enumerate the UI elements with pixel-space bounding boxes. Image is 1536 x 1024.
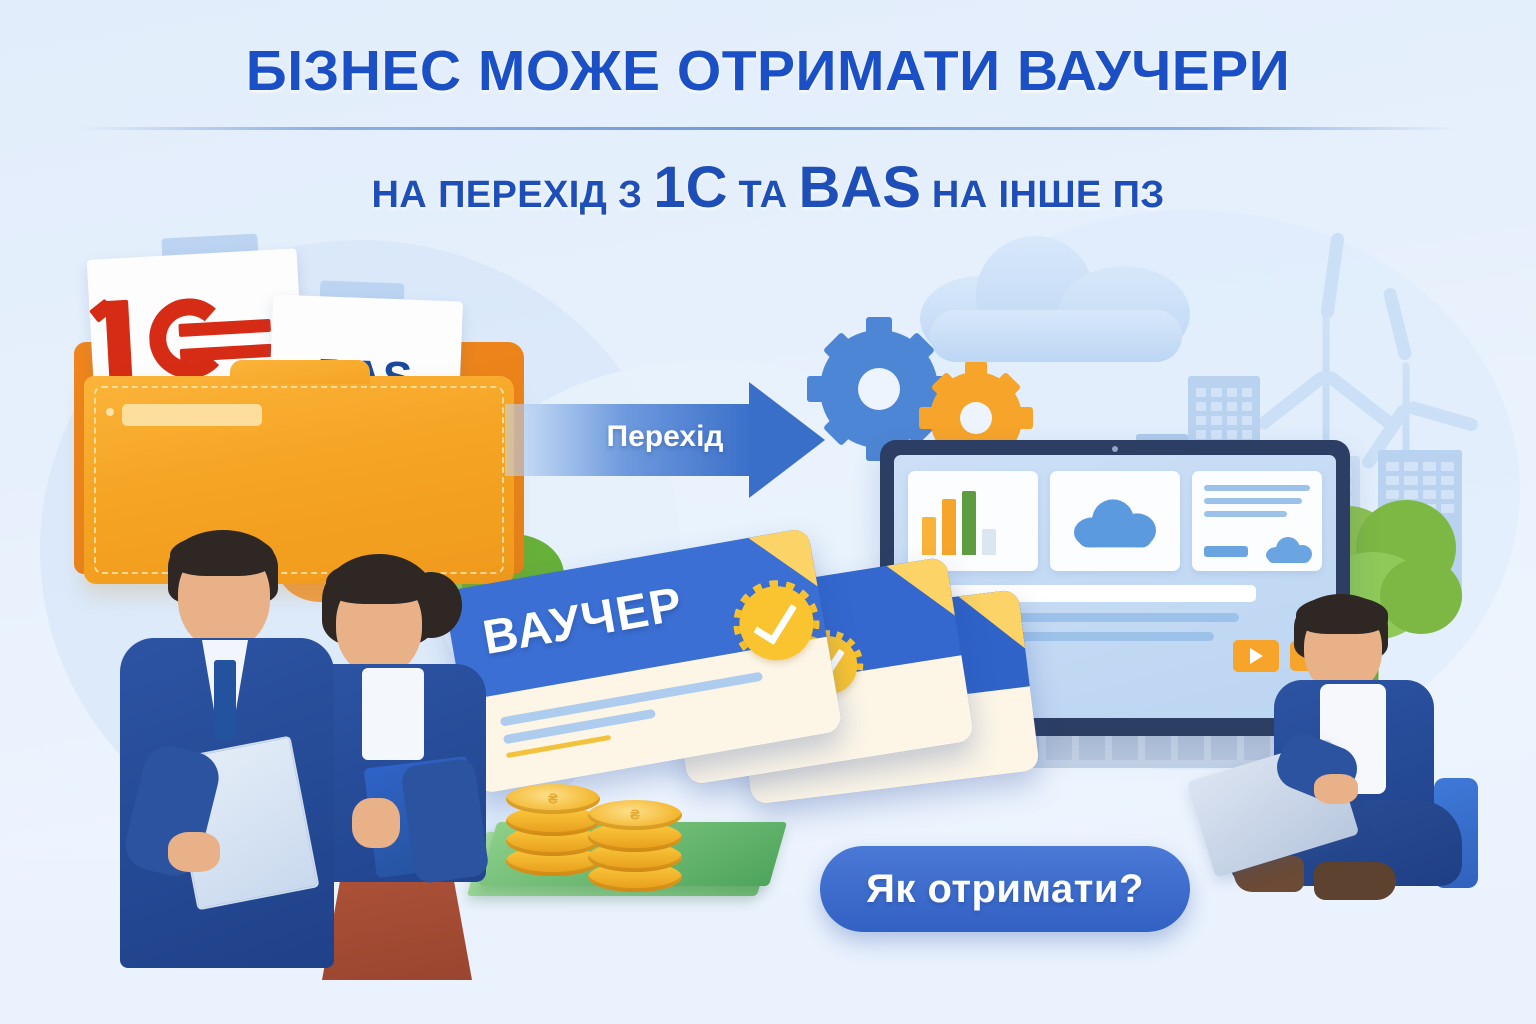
turbine-blade	[1255, 369, 1331, 432]
cloud-icon	[1266, 537, 1312, 561]
ticket-corner-fold	[958, 589, 1025, 656]
money-illustration: ₴ ₴	[478, 782, 778, 892]
voucher-title: ВАУЧЕР	[479, 577, 687, 666]
businessman-with-tablet	[116, 520, 346, 980]
page-subtitle: НА ПЕРЕХІД З 1C ТА BAS НА ІНШЕ ПЗ	[0, 154, 1536, 221]
gold-coins-icon: ₴	[506, 784, 600, 876]
hair-fringe	[1296, 596, 1388, 634]
turbine-blade	[1320, 232, 1345, 319]
arrow-label: Перехід	[565, 420, 765, 454]
gold-coins-icon: ₴	[588, 800, 682, 892]
brand-1c-label: 1C	[653, 155, 727, 220]
cloud-icon	[920, 232, 1190, 362]
document-lines-icon	[1204, 485, 1310, 524]
hand	[1314, 774, 1358, 804]
hair-fringe	[170, 534, 274, 576]
folder-label-strip	[122, 404, 262, 426]
checkmark-icon	[753, 595, 797, 645]
blouse	[362, 668, 424, 760]
brand-bas-label: BAS	[798, 155, 920, 220]
cta-label: Як отримати?	[866, 867, 1144, 912]
card-cloud	[1050, 471, 1180, 571]
necktie	[214, 660, 236, 740]
title-divider	[78, 127, 1458, 130]
turbine-blade	[1405, 400, 1480, 433]
ticket-corner-fold	[886, 556, 955, 625]
hand	[168, 832, 220, 872]
subtitle-part-3: НА ІНШЕ ПЗ	[921, 174, 1165, 216]
subtitle-part-2: ТА	[727, 174, 798, 216]
hand	[352, 798, 400, 848]
banner-header: БІЗНЕС МОЖЕ ОТРИМАТИ ВАУЧЕРИ НА ПЕРЕХІД …	[0, 42, 1536, 221]
folder-rivet	[106, 408, 114, 416]
page-title: БІЗНЕС МОЖЕ ОТРИМАТИ ВАУЧЕРИ	[0, 42, 1536, 101]
infographic-canvas: БІЗНЕС МОЖЕ ОТРИМАТИ ВАУЧЕРИ НА ПЕРЕХІД …	[0, 0, 1536, 1024]
man-seated-with-laptop	[1186, 588, 1496, 918]
subtitle-part-1: НА ПЕРЕХІД З	[371, 174, 653, 216]
card-document	[1192, 471, 1322, 571]
document-chip	[1204, 546, 1248, 557]
transition-arrow: Перехід	[505, 382, 825, 498]
cta-how-to-get-button[interactable]: Як отримати?	[820, 846, 1190, 932]
shoe	[1314, 862, 1396, 900]
webcam-icon	[1112, 446, 1118, 452]
cloud-icon	[1074, 499, 1156, 547]
turbine-blade	[1382, 287, 1413, 362]
